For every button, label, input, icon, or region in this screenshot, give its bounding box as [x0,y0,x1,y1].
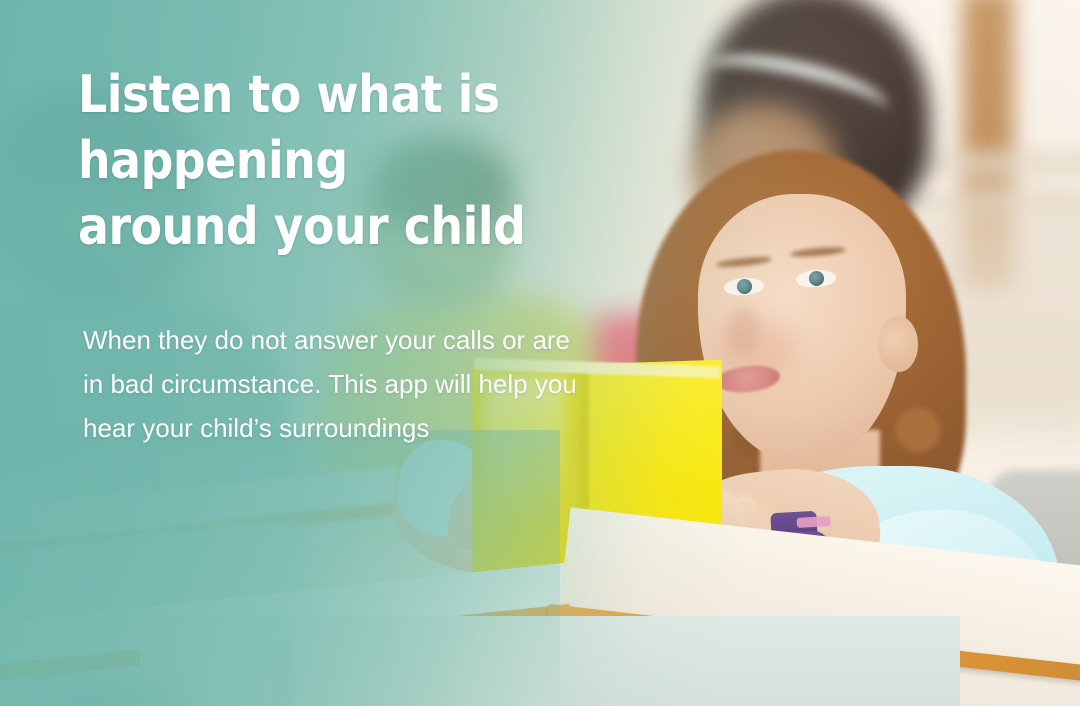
headline: Listen to what is happening around your … [78,62,694,260]
marketing-copy-block: Listen to what is happening around your … [78,62,778,450]
foreground-desk-leg [272,640,294,706]
desk-shadow [0,668,200,706]
foreground-desk-apron [140,616,960,706]
subcopy: When they do not answer your calls or ar… [78,260,778,450]
girl-iris-right [808,270,824,286]
promo-banner: Listen to what is happening around your … [0,0,1080,706]
watch-band-accent-top [797,516,831,528]
girl-ear [878,316,918,372]
